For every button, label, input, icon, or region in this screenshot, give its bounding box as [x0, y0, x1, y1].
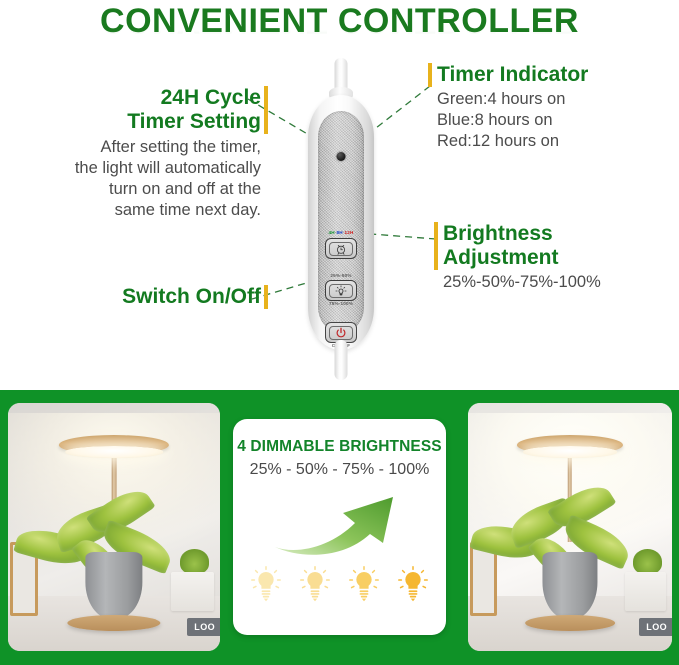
- sun-bulb-icon: [335, 285, 347, 297]
- callout-24h-cycle-body: After setting the timer, the light will …: [18, 137, 268, 221]
- callout-timer-heading-row: Timer Indicator: [428, 63, 673, 87]
- background-box: [625, 572, 666, 612]
- scene-dim: LOO: [8, 403, 220, 651]
- power-icon: [335, 327, 347, 339]
- callout-timer-indicator: Timer Indicator Green:4 hours on Blue:8 …: [428, 63, 673, 152]
- power-button-inner: [329, 326, 353, 340]
- bulb-50-icon: [300, 566, 330, 604]
- callout-24h-cycle-heading-row: 24H Cycle Timer Setting: [18, 86, 268, 134]
- callout-brightness-body: 25%-50%-75%-100%: [434, 272, 674, 293]
- alarm-clock-icon: [335, 243, 347, 255]
- photo-panel-left: LOO: [8, 403, 220, 651]
- brightness-label-top: 25%-50%: [330, 273, 351, 279]
- callout-24h-cycle: 24H Cycle Timer Setting After setting th…: [18, 86, 268, 221]
- plant-pot: [542, 552, 597, 619]
- bulb-25-icon: [251, 566, 281, 604]
- bulb-75-icon: [349, 566, 379, 604]
- lamp-light-panel: [523, 446, 617, 457]
- callout-switch-on-off: Switch On/Off: [18, 285, 268, 309]
- label-12h: 12H: [345, 230, 354, 235]
- photo-tag-right: LOO: [639, 618, 672, 636]
- brightness-button[interactable]: [325, 280, 357, 301]
- timer-duration-labels: 4H·8H·12H: [328, 230, 353, 236]
- lamp-light-panel: [65, 446, 163, 457]
- callout-switch-heading-row: Switch On/Off: [18, 285, 268, 309]
- accent-bar-icon: [264, 285, 268, 309]
- brightness-button-inner: [329, 284, 353, 298]
- lamp-wooden-base: [525, 615, 615, 631]
- plant-pot: [85, 552, 142, 619]
- callout-brightness-adjustment: Brightness Adjustment 25%-50%-75%-100%: [434, 222, 674, 293]
- callout-timer-body: Green:4 hours on Blue:8 hours on Red:12 …: [428, 89, 673, 152]
- card-title: 4 DIMMABLE BRIGHTNESS: [233, 438, 446, 456]
- controller-device: 4H·8H·12H 25%-50%: [281, 58, 401, 378]
- bulb-100-icon: [398, 566, 428, 604]
- timer-button-inner: [329, 242, 353, 256]
- upward-curved-arrow-icon: [269, 485, 419, 555]
- accent-bar-icon: [428, 63, 432, 87]
- dimmable-brightness-card: 4 DIMMABLE BRIGHTNESS 25% - 50% - 75% - …: [233, 419, 446, 635]
- card-subtitle: 25% - 50% - 75% - 100%: [233, 461, 446, 479]
- background-box: [171, 572, 213, 612]
- scene-bright: LOO: [468, 403, 672, 651]
- infographic-page: CONVENIENT CONTROLLER CONVENIENT CONTROL…: [0, 0, 679, 665]
- callout-brightness-heading-row: Brightness Adjustment: [434, 222, 674, 270]
- cable-lower: [335, 340, 348, 380]
- brightness-bulb-row: [241, 566, 438, 604]
- bottom-feature-section: LOO 4 DIMMABLE BRIGHTNESS 25% - 50% - 75…: [0, 390, 679, 665]
- brightness-label-bottom: 75%-100%: [329, 301, 353, 307]
- accent-bar-icon: [434, 222, 438, 270]
- callout-timer-heading: Timer Indicator: [437, 63, 588, 87]
- background-mini-plant: [180, 549, 210, 574]
- callout-switch-heading: Switch On/Off: [122, 285, 261, 309]
- callout-brightness-heading: Brightness Adjustment: [443, 222, 559, 270]
- photo-tag-left: LOO: [187, 618, 220, 636]
- background-mini-plant: [633, 549, 662, 574]
- timer-button[interactable]: [325, 238, 357, 259]
- callout-24h-cycle-heading: 24H Cycle Timer Setting: [127, 86, 261, 134]
- status-led-icon: [337, 152, 346, 161]
- photo-panel-right: LOO: [468, 403, 672, 651]
- accent-bar-icon: [264, 86, 268, 134]
